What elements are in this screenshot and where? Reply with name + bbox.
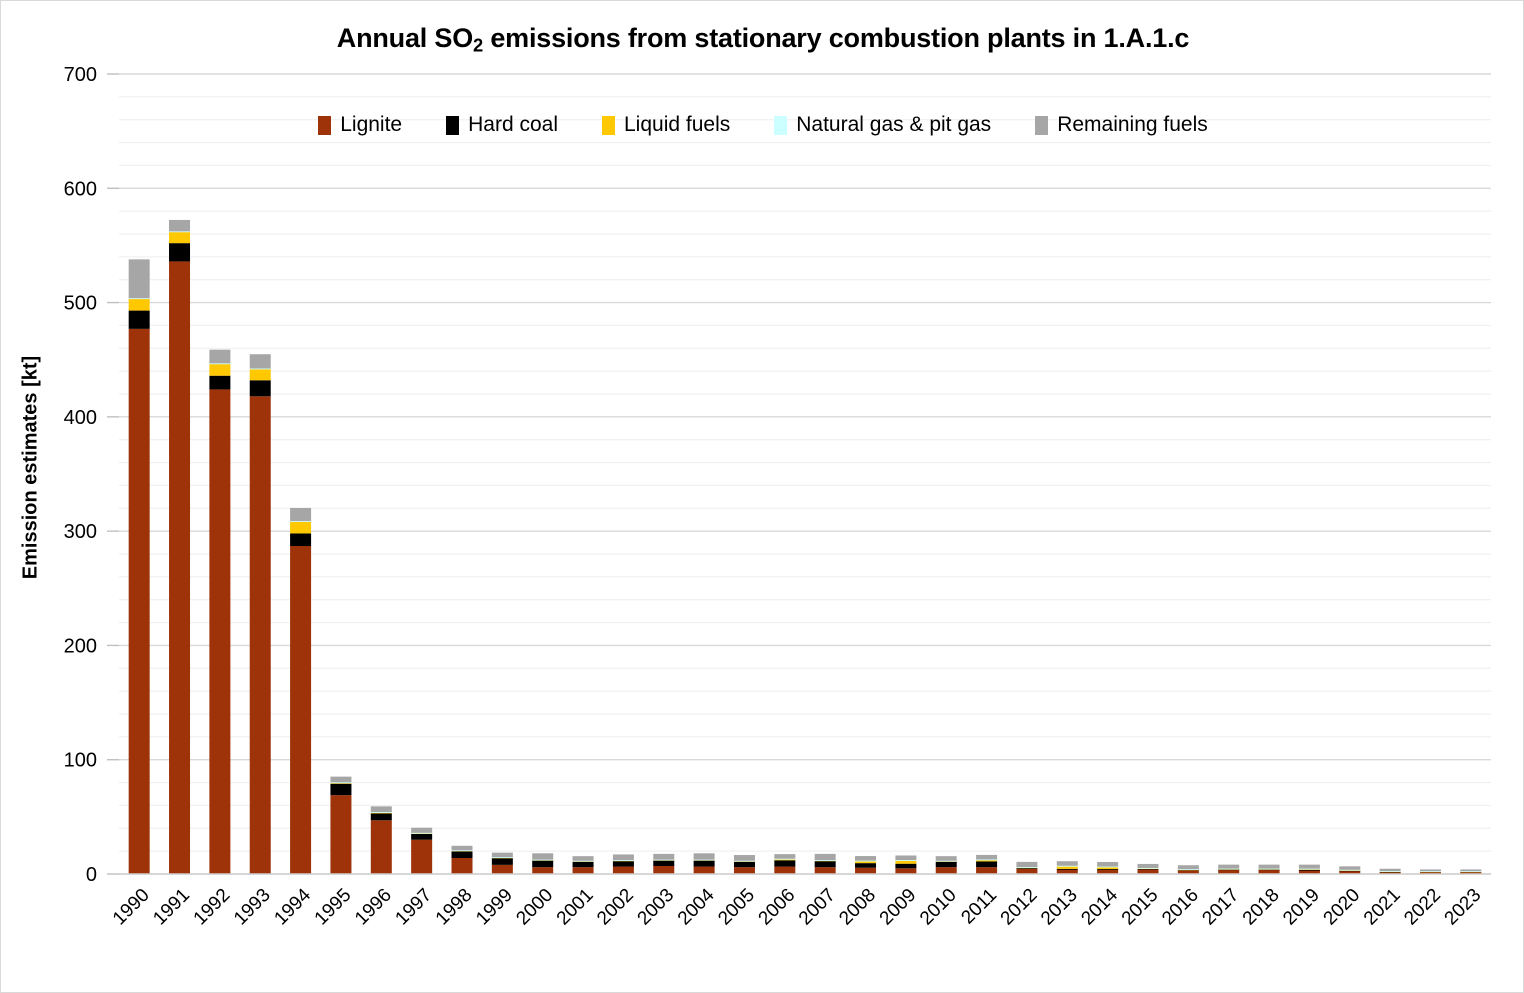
chart-legend: LigniteHard coalLiquid fuelsNatural gas … bbox=[1, 113, 1524, 137]
bar-segment bbox=[613, 854, 634, 860]
x-tick-label: 2005 bbox=[714, 885, 759, 930]
legend-label: Liquid fuels bbox=[624, 113, 730, 137]
bar-segment bbox=[330, 777, 351, 783]
bar-segment bbox=[815, 854, 836, 860]
bar-segment bbox=[411, 833, 432, 834]
bar-segment bbox=[452, 850, 473, 851]
bar-segment bbox=[452, 858, 473, 874]
legend-label: Hard coal bbox=[468, 113, 558, 137]
bar-segment bbox=[1380, 869, 1401, 871]
bar-segment bbox=[613, 860, 634, 861]
x-tick-label: 1995 bbox=[311, 885, 356, 930]
bar-segment bbox=[774, 854, 795, 859]
x-tick-label: 2016 bbox=[1158, 885, 1203, 930]
x-tick-label: 1992 bbox=[190, 885, 235, 930]
bar-segment bbox=[492, 853, 513, 858]
bar-segment bbox=[209, 364, 230, 376]
legend-label: Lignite bbox=[340, 113, 402, 137]
x-tick-label: 2000 bbox=[512, 885, 557, 930]
bar-segment bbox=[250, 380, 271, 396]
bar-segment bbox=[694, 860, 715, 861]
bar-segment bbox=[653, 866, 674, 874]
bar-segment bbox=[734, 867, 755, 874]
bar-segment bbox=[330, 784, 351, 795]
y-tick-labels: 0100200300400500600700 bbox=[64, 64, 97, 886]
bar-segment bbox=[250, 354, 271, 368]
bar-segment bbox=[330, 795, 351, 874]
bar-segment bbox=[1016, 867, 1037, 868]
x-tick-label: 2012 bbox=[997, 885, 1042, 930]
bar-segment bbox=[411, 828, 432, 833]
y-tick-label: 700 bbox=[64, 64, 97, 86]
x-tick-label: 2022 bbox=[1400, 885, 1445, 930]
bar-segment bbox=[1178, 865, 1199, 869]
x-tick-label: 2009 bbox=[876, 885, 921, 930]
bar-segment bbox=[452, 846, 473, 851]
bar-segment bbox=[492, 857, 513, 858]
bar-segment bbox=[1420, 871, 1441, 872]
x-tick-label: 2018 bbox=[1239, 885, 1284, 930]
bar-segment bbox=[774, 867, 795, 874]
x-tick-label: 1993 bbox=[230, 885, 275, 930]
bar-segment bbox=[1339, 870, 1360, 871]
bar-segment bbox=[169, 232, 190, 243]
x-tick-label: 2019 bbox=[1279, 885, 1324, 930]
bar-segment bbox=[855, 861, 876, 862]
bar-segment bbox=[734, 855, 755, 861]
bar-segment bbox=[855, 868, 876, 874]
bar-segment bbox=[532, 860, 553, 861]
x-tick-label: 2021 bbox=[1360, 885, 1405, 930]
bar-segment bbox=[250, 369, 271, 380]
bar-segment bbox=[815, 860, 836, 861]
bar-segment bbox=[573, 867, 594, 874]
bar-segment bbox=[936, 867, 957, 874]
bar-segment bbox=[492, 865, 513, 874]
y-tick-label: 200 bbox=[64, 635, 97, 657]
x-tick-label: 2004 bbox=[674, 884, 719, 929]
bar-segment bbox=[532, 853, 553, 859]
legend-swatch-icon bbox=[318, 116, 331, 135]
x-tick-label: 2008 bbox=[835, 885, 880, 930]
x-tick-label: 2007 bbox=[795, 885, 840, 930]
x-tick-label: 2002 bbox=[593, 885, 638, 930]
bar-segment bbox=[169, 220, 190, 231]
bar-segment bbox=[653, 860, 674, 866]
x-tick-label: 2020 bbox=[1320, 885, 1365, 930]
chart-page: Annual SO2 emissions from stationary com… bbox=[0, 0, 1524, 993]
bar-segment bbox=[169, 261, 190, 874]
y-tick-label: 400 bbox=[64, 407, 97, 429]
bar-segment bbox=[1057, 869, 1078, 870]
bar-segment bbox=[1218, 865, 1239, 869]
bar-segment bbox=[815, 867, 836, 874]
bar-segment bbox=[129, 298, 150, 299]
x-tick-label: 1996 bbox=[351, 885, 396, 930]
bar-segment bbox=[129, 259, 150, 298]
bar-segment bbox=[774, 859, 795, 860]
x-tick-label: 2014 bbox=[1077, 884, 1122, 929]
bar-segment bbox=[573, 861, 594, 867]
x-tick-label: 1990 bbox=[109, 885, 154, 930]
bar-segment bbox=[492, 858, 513, 865]
bar-segment bbox=[1218, 869, 1239, 870]
bar-segment bbox=[1460, 871, 1481, 872]
bar-segment bbox=[1460, 869, 1481, 871]
bar-segment bbox=[694, 860, 715, 866]
bar-segment bbox=[1299, 869, 1320, 870]
bar-segment bbox=[290, 546, 311, 874]
gridlines bbox=[119, 74, 1491, 874]
x-tick-label: 2015 bbox=[1118, 885, 1163, 930]
bar-segment bbox=[855, 863, 876, 868]
y-tick-marks bbox=[107, 74, 119, 874]
x-tick-label: 2001 bbox=[553, 885, 598, 930]
bar-segment bbox=[532, 867, 553, 874]
bar-segment bbox=[895, 864, 916, 869]
bar-segment bbox=[411, 834, 432, 840]
bar-segment bbox=[169, 243, 190, 261]
y-tick-label: 100 bbox=[64, 750, 97, 772]
bar-segment bbox=[573, 861, 594, 862]
x-tick-label: 2003 bbox=[634, 885, 679, 930]
bar-segment bbox=[694, 853, 715, 859]
bar-segment bbox=[694, 867, 715, 874]
bar-segment bbox=[1138, 864, 1159, 868]
bar-segment bbox=[330, 782, 351, 783]
bar-segment bbox=[129, 329, 150, 874]
x-tick-label: 2023 bbox=[1441, 885, 1486, 930]
bar-segment bbox=[290, 521, 311, 522]
legend-item[interactable]: Lignite bbox=[318, 113, 402, 137]
x-tick-label: 1994 bbox=[270, 884, 315, 929]
bar-segment bbox=[1259, 869, 1280, 870]
bar-segment bbox=[290, 508, 311, 521]
bar-segment bbox=[734, 861, 755, 867]
bar-segment bbox=[613, 861, 634, 867]
x-tick-label: 2010 bbox=[916, 885, 961, 930]
bar-segment bbox=[976, 855, 997, 860]
bar-segment bbox=[734, 861, 755, 862]
legend-swatch-icon bbox=[1035, 116, 1048, 135]
legend-swatch-icon bbox=[602, 116, 615, 135]
bar-segment bbox=[371, 813, 392, 820]
bar-segment bbox=[209, 363, 230, 364]
bar-segment bbox=[1097, 869, 1118, 870]
bar-segment bbox=[895, 868, 916, 874]
y-tick-label: 500 bbox=[64, 293, 97, 315]
bar-segment bbox=[653, 860, 674, 861]
bar-segment bbox=[774, 860, 795, 866]
bar-segment bbox=[129, 311, 150, 329]
bar-segment bbox=[1057, 861, 1078, 866]
legend-label: Remaining fuels bbox=[1057, 113, 1208, 137]
x-tick-label: 2017 bbox=[1198, 885, 1243, 930]
bar-segment bbox=[1420, 869, 1441, 871]
bar-segment bbox=[1097, 862, 1118, 867]
bar-segment bbox=[936, 861, 957, 862]
bar-segment bbox=[653, 854, 674, 860]
bar-segment bbox=[1138, 868, 1159, 869]
legend-swatch-icon bbox=[774, 116, 787, 135]
bar-segment bbox=[209, 389, 230, 874]
x-tick-label: 1999 bbox=[472, 885, 517, 930]
bar-segment bbox=[976, 861, 997, 867]
bar-segment bbox=[976, 867, 997, 874]
bar-segment bbox=[1178, 869, 1199, 870]
x-tick-label: 1991 bbox=[149, 885, 194, 930]
x-tick-label: 2011 bbox=[957, 885, 1001, 929]
bar-segment bbox=[532, 860, 553, 867]
legend-swatch-icon bbox=[446, 116, 459, 135]
bar-segment bbox=[1057, 866, 1078, 867]
bar-segment bbox=[815, 861, 836, 867]
bar-segment bbox=[250, 396, 271, 874]
bar-segment bbox=[371, 820, 392, 874]
bar-segment bbox=[1016, 862, 1037, 867]
bar-segment bbox=[290, 533, 311, 546]
bar-segment bbox=[1299, 870, 1320, 871]
bar-segment bbox=[1259, 865, 1280, 869]
bar-segment bbox=[209, 376, 230, 390]
bars bbox=[129, 220, 1482, 874]
x-tick-label: 2006 bbox=[755, 885, 800, 930]
x-tick-label: 1998 bbox=[432, 885, 477, 930]
x-tick-labels: 1990199119921993199419951996199719981999… bbox=[109, 884, 1485, 929]
bar-segment bbox=[250, 369, 271, 370]
bar-segment bbox=[855, 856, 876, 861]
bar-segment bbox=[371, 812, 392, 813]
bar-segment bbox=[895, 855, 916, 860]
bar-segment bbox=[1097, 867, 1118, 868]
legend-item[interactable]: Remaining fuels bbox=[1035, 113, 1208, 137]
y-tick-label: 0 bbox=[86, 864, 97, 886]
bar-segment bbox=[411, 840, 432, 874]
bar-segment bbox=[1339, 866, 1360, 869]
bar-segment bbox=[976, 859, 997, 860]
bar-segment bbox=[1380, 871, 1401, 872]
bar-segment bbox=[573, 856, 594, 861]
y-tick-label: 300 bbox=[64, 521, 97, 543]
bar-segment bbox=[290, 521, 311, 533]
bar-segment bbox=[895, 860, 916, 861]
bar-segment bbox=[613, 867, 634, 874]
bar-segment bbox=[936, 856, 957, 861]
bar-segment bbox=[209, 350, 230, 364]
bar-segment bbox=[129, 299, 150, 311]
legend-item[interactable]: Liquid fuels bbox=[602, 113, 730, 137]
legend-label: Natural gas & pit gas bbox=[796, 113, 991, 137]
bar-segment bbox=[936, 861, 957, 867]
bar-segment bbox=[169, 231, 190, 232]
bar-segment bbox=[1299, 865, 1320, 869]
chart-plot-area: 0100200300400500600700 19901991199219931… bbox=[1, 1, 1524, 993]
y-tick-label: 600 bbox=[64, 178, 97, 200]
legend-item[interactable]: Natural gas & pit gas bbox=[774, 113, 991, 137]
x-tick-label: 1997 bbox=[391, 885, 436, 930]
bar-segment bbox=[371, 806, 392, 812]
legend-item[interactable]: Hard coal bbox=[446, 113, 558, 137]
x-tick-label: 2013 bbox=[1037, 885, 1082, 930]
bar-segment bbox=[452, 851, 473, 858]
